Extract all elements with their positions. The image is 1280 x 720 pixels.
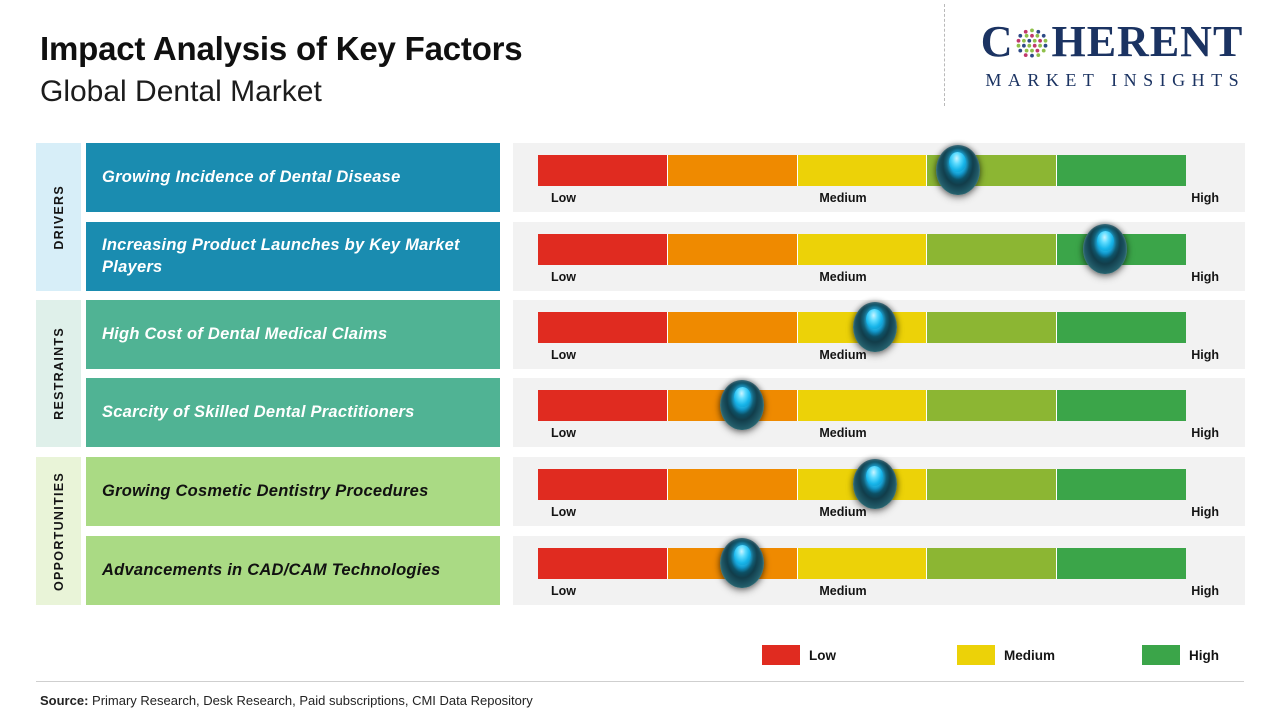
factor-box[interactable]: Growing Incidence of Dental Disease	[86, 143, 500, 212]
gauge-segment-low	[538, 390, 668, 421]
header: Impact Analysis of Key Factors Global De…	[0, 0, 1280, 130]
scale-label-low: Low	[551, 505, 576, 519]
gauge-segment-medium	[798, 390, 928, 421]
gauge-bar	[538, 312, 1186, 343]
scale-label-high: High	[1191, 270, 1219, 284]
gauge-segment-medium-high	[927, 548, 1057, 579]
slide-root: Impact Analysis of Key Factors Global De…	[0, 0, 1280, 720]
scale-label-high: High	[1191, 584, 1219, 598]
scale-label-medium: Medium	[819, 584, 866, 598]
gauge-segment-low-medium	[668, 155, 798, 186]
gauge-segment-low	[538, 469, 668, 500]
scale-label-high: High	[1191, 426, 1219, 440]
gauge-bar	[538, 155, 1186, 186]
gauge-segment-low	[538, 234, 668, 265]
logo-tagline: MARKET INSIGHTS	[962, 70, 1262, 91]
scale-label-high: High	[1191, 348, 1219, 362]
scale-label-medium: Medium	[819, 426, 866, 440]
gauge-segment-medium	[798, 155, 928, 186]
category-band-drivers: DRIVERS	[36, 143, 81, 291]
logo-wordmark: C	[962, 20, 1262, 64]
logo-text-before: C	[981, 20, 1014, 64]
factor-label: Increasing Product Launches by Key Marke…	[102, 235, 484, 279]
gauge-segment-high	[1057, 469, 1186, 500]
source-note: Source: Primary Research, Desk Research,…	[40, 693, 533, 708]
gauge-segment-low-medium	[668, 390, 798, 421]
footer-divider	[36, 681, 1244, 682]
gauge-segment-low	[538, 312, 668, 343]
legend-swatch-high	[1142, 645, 1180, 665]
factor-label: Advancements in CAD/CAM Technologies	[102, 560, 440, 582]
gauge-segment-medium-high	[927, 469, 1057, 500]
gauge-segment-high	[1057, 155, 1186, 186]
globe-dots-icon	[1014, 25, 1050, 61]
category-label: RESTRAINTS	[52, 327, 66, 420]
source-text: Primary Research, Desk Research, Paid su…	[88, 693, 532, 708]
category-label: DRIVERS	[52, 185, 66, 250]
page-title: Impact Analysis of Key Factors	[40, 30, 522, 69]
legend-item: Medium	[957, 645, 1055, 665]
legend-swatch-medium	[957, 645, 995, 665]
gauge-segment-low-medium	[668, 312, 798, 343]
factor-label: High Cost of Dental Medical Claims	[102, 324, 387, 346]
gauge-segment-medium-high	[927, 390, 1057, 421]
factor-box[interactable]: Advancements in CAD/CAM Technologies	[86, 536, 500, 605]
gauge-bar	[538, 390, 1186, 421]
factor-label: Growing Cosmetic Dentistry Procedures	[102, 481, 429, 503]
factor-box[interactable]: Growing Cosmetic Dentistry Procedures	[86, 457, 500, 526]
scale-label-low: Low	[551, 270, 576, 284]
legend-swatch-low	[762, 645, 800, 665]
scale-label-medium: Medium	[819, 505, 866, 519]
brand-logo: C	[962, 20, 1262, 91]
scale-label-low: Low	[551, 191, 576, 205]
gauge-bar	[538, 548, 1186, 579]
gauge-segment-medium-high	[927, 312, 1057, 343]
impact-gauge[interactable]: LowMediumHigh	[513, 536, 1245, 605]
gauge-segment-medium	[798, 312, 928, 343]
factor-box[interactable]: Scarcity of Skilled Dental Practitioners	[86, 378, 500, 447]
legend-label: Low	[809, 648, 836, 663]
page-subtitle: Global Dental Market	[40, 72, 522, 111]
logo-divider	[944, 4, 945, 106]
factor-label: Growing Incidence of Dental Disease	[102, 167, 401, 189]
legend-item: High	[1142, 645, 1219, 665]
scale-label-high: High	[1191, 191, 1219, 205]
category-label: OPPORTUNITIES	[52, 472, 66, 591]
logo-text-after: HERENT	[1051, 20, 1243, 64]
gauge-segment-medium	[798, 469, 928, 500]
scale-label-medium: Medium	[819, 348, 866, 362]
scale-label-medium: Medium	[819, 270, 866, 284]
source-label: Source:	[40, 693, 88, 708]
category-band-restraints: RESTRAINTS	[36, 300, 81, 447]
gauge-segment-medium	[798, 548, 928, 579]
gauge-segment-high	[1057, 234, 1186, 265]
gauge-bar	[538, 469, 1186, 500]
gauge-segment-medium-high	[927, 234, 1057, 265]
impact-gauge[interactable]: LowMediumHigh	[513, 143, 1245, 212]
impact-gauge[interactable]: LowMediumHigh	[513, 378, 1245, 447]
scale-label-low: Low	[551, 426, 576, 440]
gauge-segment-high	[1057, 390, 1186, 421]
legend-item: Low	[762, 645, 836, 665]
legend-label: Medium	[1004, 648, 1055, 663]
gauge-segment-medium	[798, 234, 928, 265]
legend-label: High	[1189, 648, 1219, 663]
scale-label-high: High	[1191, 505, 1219, 519]
gauge-segment-low-medium	[668, 548, 798, 579]
scale-label-low: Low	[551, 348, 576, 362]
factor-label: Scarcity of Skilled Dental Practitioners	[102, 402, 415, 424]
gauge-segment-low-medium	[668, 234, 798, 265]
impact-gauge[interactable]: LowMediumHigh	[513, 222, 1245, 291]
gauge-segment-medium-high	[927, 155, 1057, 186]
gauge-segment-high	[1057, 548, 1186, 579]
impact-gauge[interactable]: LowMediumHigh	[513, 457, 1245, 526]
legend: LowMediumHigh	[762, 645, 1182, 669]
scale-label-low: Low	[551, 584, 576, 598]
impact-gauge[interactable]: LowMediumHigh	[513, 300, 1245, 369]
category-band-opportunities: OPPORTUNITIES	[36, 457, 81, 605]
scale-label-medium: Medium	[819, 191, 866, 205]
factor-box[interactable]: High Cost of Dental Medical Claims	[86, 300, 500, 369]
gauge-bar	[538, 234, 1186, 265]
gauge-segment-high	[1057, 312, 1186, 343]
factor-box[interactable]: Increasing Product Launches by Key Marke…	[86, 222, 500, 291]
gauge-segment-low	[538, 155, 668, 186]
title-block: Impact Analysis of Key Factors Global De…	[40, 30, 522, 111]
gauge-segment-low-medium	[668, 469, 798, 500]
gauge-segment-low	[538, 548, 668, 579]
